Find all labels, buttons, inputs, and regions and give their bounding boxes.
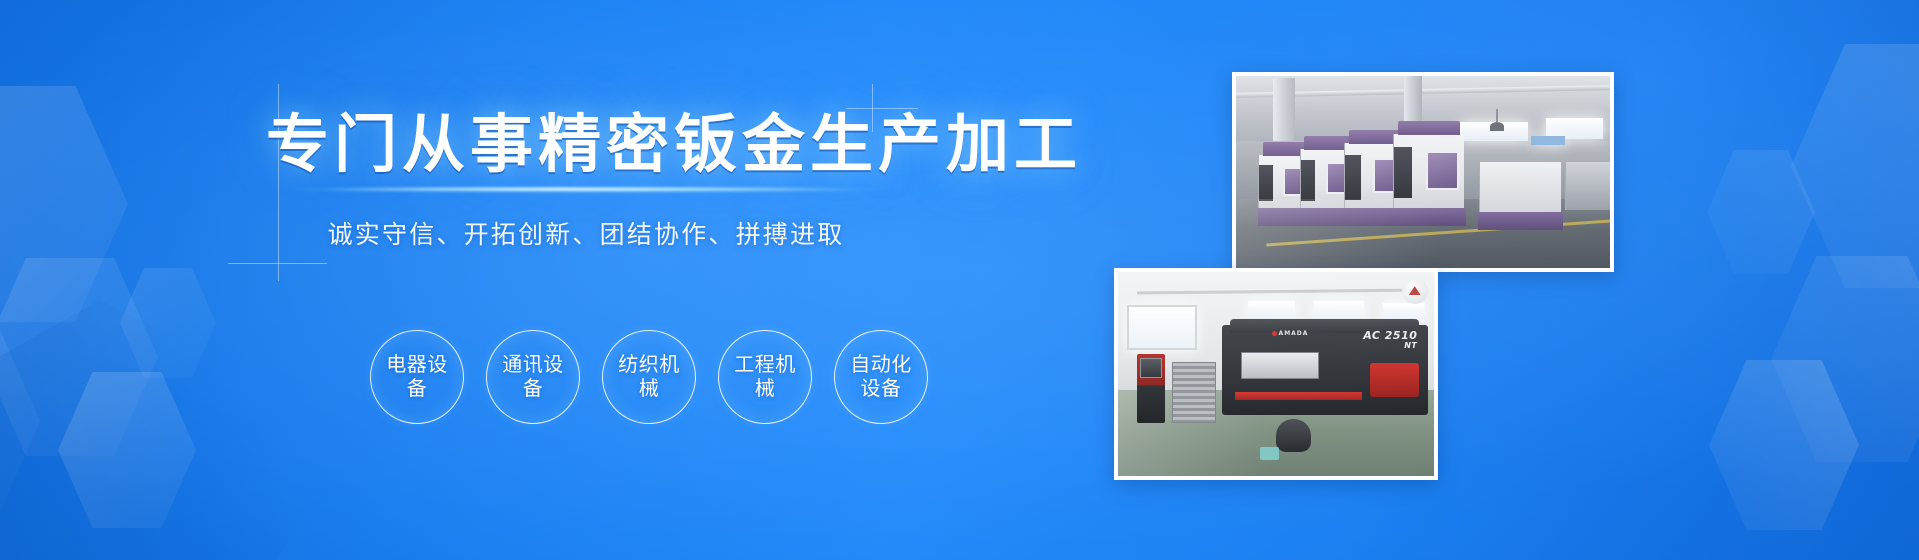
- floor-reflection: [1236, 199, 1610, 268]
- hero-banner: 专门从事精密钣金生产加工 诚实守信、开拓创新、团结协作、拼搏进取 电器设备 通讯…: [0, 0, 1919, 560]
- category-badge-communication-equipment[interactable]: 通讯设备: [486, 330, 580, 424]
- category-badge-label: 通讯设备: [502, 353, 564, 400]
- category-badge-electrical-equipment[interactable]: 电器设备: [370, 330, 464, 424]
- category-badge-label: 电器设备: [386, 353, 448, 400]
- hero-copy-block: 专门从事精密钣金生产加工 诚实守信、开拓创新、团结协作、拼搏进取: [266, 112, 906, 251]
- hexagon-decor: [1791, 44, 1919, 288]
- factory-window: [1531, 136, 1565, 146]
- category-badge-textile-machinery[interactable]: 纺织机械: [602, 330, 696, 424]
- floor-bucket: [1260, 447, 1279, 459]
- category-badge-label: 工程机械: [734, 353, 796, 400]
- polygon-shade-decor: [0, 300, 360, 560]
- operator-console: [1137, 354, 1165, 423]
- photo-cnc-machining-line[interactable]: [1232, 72, 1614, 272]
- hero-headline: 专门从事精密钣金生产加工: [266, 112, 906, 178]
- watermark-logo-icon: [1402, 278, 1428, 304]
- factory-window: [1314, 301, 1365, 319]
- material-rack: [1172, 362, 1216, 423]
- factory-window: [1248, 301, 1295, 319]
- factory-window: [1127, 305, 1197, 350]
- photo-amada-turret-punch-press[interactable]: AMADA AC 2510 NT: [1114, 268, 1438, 480]
- headline-glow-underline: [280, 186, 892, 193]
- turret-punch-press: AMADA AC 2510 NT: [1222, 325, 1427, 415]
- category-badge-row: 电器设备 通讯设备 纺织机械 工程机械 自动化设备: [370, 330, 928, 424]
- ceiling-column: [1273, 78, 1295, 141]
- category-badge-label: 自动化设备: [850, 353, 912, 400]
- pendant-lamp: [1490, 122, 1504, 131]
- machine-motor: [1276, 419, 1311, 452]
- machine-model-label: AC 2510 NT: [1363, 330, 1417, 350]
- photo-amada-turret-punch-press-image: AMADA AC 2510 NT: [1118, 272, 1434, 476]
- hero-subtitle: 诚实守信、开拓创新、团结协作、拼搏进取: [266, 215, 906, 251]
- photo-cnc-machining-line-image: [1236, 76, 1610, 268]
- category-badge-construction-machinery[interactable]: 工程机械: [718, 330, 812, 424]
- category-badge-label: 纺织机械: [618, 353, 680, 400]
- factory-window: [1383, 303, 1424, 319]
- category-badge-automation-equipment[interactable]: 自动化设备: [834, 330, 928, 424]
- crosshair-left-horizontal-line: [228, 263, 327, 264]
- machine-brand-label: AMADA: [1272, 330, 1309, 337]
